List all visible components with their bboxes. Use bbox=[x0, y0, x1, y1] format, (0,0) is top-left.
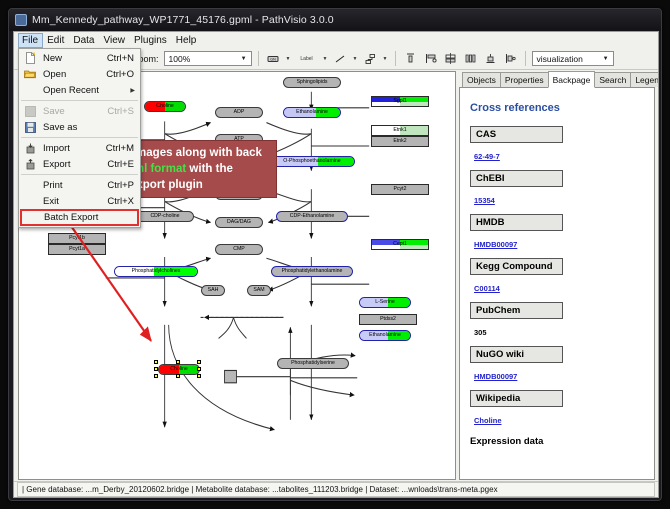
node-pcyt1b[interactable]: Pcyt1b bbox=[48, 233, 106, 244]
menu-item-accel: Ctrl+N bbox=[107, 53, 140, 64]
screenshot-root: Mm_Kennedy_pathway_WP1771_45176.gpml - P… bbox=[0, 0, 670, 509]
node-ptdss2[interactable]: Ptdss2 bbox=[359, 314, 417, 325]
blank-icon bbox=[22, 84, 38, 97]
node-sah[interactable]: SAH bbox=[201, 285, 225, 296]
menu-help[interactable]: Help bbox=[172, 33, 202, 48]
node-label: ADP bbox=[234, 110, 245, 115]
import-icon bbox=[22, 142, 38, 155]
blank-icon bbox=[22, 179, 38, 192]
label-dropdown-icon[interactable]: ▼ bbox=[322, 56, 329, 62]
node-label: Sphingolipids bbox=[297, 80, 328, 85]
xref-label-pubchem: PubChem bbox=[470, 302, 563, 319]
app-container: File Edit Data View Plugins Help Zoom: 1… bbox=[13, 31, 659, 498]
node-label: Etnk1 bbox=[393, 128, 406, 133]
node-label: Phosphatidylcholines bbox=[132, 269, 181, 274]
chevron-down-icon: ▼ bbox=[600, 56, 612, 62]
blank-icon bbox=[23, 211, 39, 224]
chevron-right-icon: ▶ bbox=[130, 87, 135, 94]
menu-item-label: New bbox=[43, 53, 107, 64]
node-o-phosphoethanolamine[interactable]: O-Phosphoethanolamine bbox=[269, 156, 355, 167]
node-cdp-ethanolamine[interactable]: CDP-Ethanolamine bbox=[276, 211, 348, 222]
xref-value-pubchem: 305 bbox=[474, 328, 487, 337]
node-label: Ptdss2 bbox=[380, 317, 396, 322]
toolbar-separator bbox=[395, 51, 396, 66]
menu-item-accel: Ctrl+X bbox=[107, 196, 140, 207]
stack-bottom-icon[interactable] bbox=[482, 50, 499, 67]
menu-item-print[interactable]: Print Ctrl+P bbox=[19, 177, 140, 193]
side-panel: Objects Properties Backpage Search Legen… bbox=[458, 70, 658, 481]
node-label: CDP-choline bbox=[150, 214, 179, 219]
xref-label-chebi: ChEBI bbox=[470, 170, 563, 187]
node-label: SAH bbox=[208, 288, 219, 293]
menu-item-accel: Ctrl+P bbox=[107, 180, 140, 191]
status-bar: | Gene database: ...m_Derby_20120602.bri… bbox=[14, 481, 658, 497]
menu-bar: File Edit Data View Plugins Help bbox=[14, 32, 658, 48]
shape-tool-icon[interactable] bbox=[362, 50, 379, 67]
node-label: Pcyt1b bbox=[69, 236, 85, 241]
menu-item-label: Exit bbox=[43, 196, 107, 207]
application-window: Mm_Kennedy_pathway_WP1771_45176.gpml - P… bbox=[8, 8, 662, 501]
node-etnk1[interactable]: Etnk1 bbox=[371, 125, 429, 136]
tab-properties[interactable]: Properties bbox=[500, 72, 549, 87]
xref-value-kegg-compound[interactable]: C00114 bbox=[474, 284, 500, 293]
node-cdp-choline[interactable]: CDP-choline bbox=[136, 211, 194, 222]
menu-item-label: Import bbox=[43, 143, 106, 154]
label-tool-icon[interactable]: Label bbox=[295, 50, 319, 67]
svg-text:GN: GN bbox=[270, 57, 276, 61]
node-label: Ethanolamine bbox=[296, 110, 328, 115]
node-label: Phosphatidylethanolamine bbox=[282, 269, 343, 274]
menu-item-label: Open Recent bbox=[43, 85, 140, 96]
save-icon bbox=[22, 105, 38, 118]
folder-icon bbox=[22, 68, 38, 81]
node-label: SAM bbox=[253, 288, 264, 293]
menu-item-label: Export bbox=[43, 159, 107, 170]
toolbar-separator bbox=[525, 51, 526, 66]
menu-separator bbox=[21, 100, 138, 101]
node-label: Sgpl1 bbox=[393, 99, 406, 104]
node-adp[interactable]: ADP bbox=[215, 107, 263, 118]
node-label: DAG/DAG bbox=[227, 220, 251, 225]
xref-value-hmdb[interactable]: HMDB00097 bbox=[474, 240, 517, 249]
menu-item-new[interactable]: New Ctrl+N bbox=[19, 50, 140, 66]
xref-label-wikipedia: Wikipedia bbox=[470, 390, 563, 407]
title-bar: Mm_Kennedy_pathway_WP1771_45176.gpml - P… bbox=[9, 9, 661, 31]
xref-label-hmdb: HMDB bbox=[470, 214, 563, 231]
menu-item-save[interactable]: Save Ctrl+S bbox=[19, 103, 140, 119]
node-label: Choline bbox=[156, 104, 174, 109]
menu-item-accel: Ctrl+E bbox=[107, 159, 140, 170]
node-l-serine[interactable]: L-Serine bbox=[359, 297, 411, 308]
node-dag[interactable]: DAG/DAG bbox=[215, 217, 263, 228]
tab-search[interactable]: Search bbox=[594, 72, 631, 87]
datanode-tool-icon[interactable]: GN bbox=[265, 50, 282, 67]
menu-item-accel: Ctrl+O bbox=[106, 69, 140, 80]
menu-item-accel: Ctrl+S bbox=[107, 106, 140, 117]
node-label: Phosphatidylserine bbox=[291, 361, 335, 366]
menu-item-save-as[interactable]: Save as bbox=[19, 119, 140, 135]
xref-value-wikipedia[interactable]: Choline bbox=[474, 416, 502, 425]
window-title: Mm_Kennedy_pathway_WP1771_45176.gpml - P… bbox=[32, 14, 334, 26]
menu-data[interactable]: Data bbox=[69, 33, 99, 48]
visualization-value: visualization bbox=[537, 54, 583, 64]
node-label: Cept1 bbox=[393, 242, 407, 247]
node-label: Choline bbox=[170, 367, 188, 372]
zoom-combobox[interactable]: 100% ▼ bbox=[164, 51, 252, 66]
expression-data-heading: Expression data bbox=[470, 436, 646, 447]
node-phosphatidylserine[interactable]: Phosphatidylserine bbox=[277, 358, 349, 369]
node-label: CMP bbox=[233, 247, 245, 252]
node-ethanolamine[interactable]: Ethanolamine bbox=[283, 107, 341, 118]
datanode-dropdown-icon[interactable]: ▼ bbox=[285, 56, 292, 62]
node-label: Ethanolamine bbox=[369, 333, 401, 338]
callout-line-2-post: with the bbox=[186, 163, 233, 175]
menu-item-accel: Ctrl+M bbox=[106, 143, 140, 154]
visualization-combobox[interactable]: visualization ▼ bbox=[532, 51, 614, 66]
node-sgpl1[interactable]: Sgpl1 bbox=[371, 96, 429, 107]
menu-item-open[interactable]: Open Ctrl+O bbox=[19, 66, 140, 82]
tab-objects[interactable]: Objects bbox=[462, 72, 501, 87]
menu-item-label: Print bbox=[43, 180, 107, 191]
menu-item-export[interactable]: Export Ctrl+E bbox=[19, 156, 140, 172]
node-phosphatidylcholines[interactable]: Phosphatidylcholines bbox=[114, 266, 198, 277]
shape-dropdown-icon[interactable]: ▼ bbox=[382, 56, 389, 62]
save-as-icon bbox=[22, 121, 38, 134]
menu-item-label: Open bbox=[43, 69, 106, 80]
cross-references-heading: Cross references bbox=[470, 102, 646, 114]
align-middle-icon[interactable] bbox=[442, 50, 459, 67]
node-etnk2[interactable]: Etnk2 bbox=[371, 136, 429, 147]
node-label: Pcyt1a bbox=[69, 247, 85, 252]
node-phosphatidylethanolamine[interactable]: Phosphatidylethanolamine bbox=[271, 266, 353, 277]
blank-icon bbox=[22, 195, 38, 208]
tab-legend[interactable]: Legend bbox=[630, 72, 659, 87]
status-text: | Gene database: ...m_Derby_20120602.bri… bbox=[17, 482, 655, 497]
menu-item-open-recent[interactable]: Open Recent ▶ bbox=[19, 82, 140, 98]
xref-value-chebi[interactable]: 15354 bbox=[474, 196, 495, 205]
menu-file[interactable]: File bbox=[18, 33, 43, 48]
new-file-icon bbox=[22, 52, 38, 65]
node-label: Etnk2 bbox=[393, 139, 406, 144]
distribute-icon[interactable] bbox=[462, 50, 479, 67]
chevron-down-icon: ▼ bbox=[238, 56, 250, 62]
line-dropdown-icon[interactable]: ▼ bbox=[352, 56, 359, 62]
menu-plugins[interactable]: Plugins bbox=[130, 33, 172, 48]
xref-value-cas[interactable]: 62-49-7 bbox=[474, 152, 500, 161]
node-pcyt1a[interactable]: Pcyt1a bbox=[48, 244, 106, 255]
xref-value-nugo-wiki[interactable]: HMDB00097 bbox=[474, 372, 517, 381]
xref-label-nugo-wiki: NuGO wiki bbox=[470, 346, 563, 363]
pathvisio-icon bbox=[15, 14, 27, 26]
node-sphingolipids[interactable]: Sphingolipids bbox=[283, 77, 341, 88]
menu-separator bbox=[21, 174, 138, 175]
node-choline[interactable]: Choline bbox=[144, 101, 186, 112]
align-left-icon[interactable] bbox=[422, 50, 439, 67]
menu-item-import[interactable]: Import Ctrl+M bbox=[19, 140, 140, 156]
file-dropdown-menu: New Ctrl+N Open Ctrl+O Open Recent ▶ bbox=[18, 48, 141, 228]
node-label: Pcyt2 bbox=[394, 187, 407, 192]
menu-item-label: Batch Export bbox=[44, 212, 137, 223]
stack-right-icon[interactable] bbox=[502, 50, 519, 67]
menu-view[interactable]: View bbox=[99, 33, 130, 48]
toolbar-separator bbox=[258, 51, 259, 66]
node-cmp[interactable]: CMP bbox=[215, 244, 263, 255]
node-label: L-Serine bbox=[375, 300, 395, 305]
node-label: CDP-Ethanolamine bbox=[290, 214, 334, 219]
side-panel-tabs: Objects Properties Backpage Search Legen… bbox=[459, 71, 655, 88]
line-tool-icon[interactable] bbox=[332, 50, 349, 67]
menu-separator bbox=[21, 137, 138, 138]
xref-label-cas: CAS bbox=[470, 126, 563, 143]
node-pcyt2[interactable]: Pcyt2 bbox=[371, 184, 429, 195]
export-icon bbox=[22, 158, 38, 171]
zoom-value: 100% bbox=[169, 54, 191, 64]
node-sam[interactable]: SAM bbox=[247, 285, 271, 296]
menu-edit[interactable]: Edit bbox=[43, 33, 69, 48]
align-top-icon[interactable] bbox=[402, 50, 419, 67]
node-ethanolamine-2[interactable]: Ethanolamine bbox=[359, 330, 411, 341]
node-label: O-Phosphoethanolamine bbox=[283, 159, 340, 164]
menu-item-label: Save as bbox=[43, 122, 134, 133]
menu-item-batch-export[interactable]: Batch Export bbox=[20, 209, 139, 226]
node-cept1[interactable]: Cept1 bbox=[371, 239, 429, 250]
backpage-content: Cross references CAS 62-49-7 ChEBI 15354… bbox=[459, 88, 655, 480]
xref-label-kegg-compound: Kegg Compound bbox=[470, 258, 563, 275]
menu-item-label: Save bbox=[43, 106, 107, 117]
menu-item-exit[interactable]: Exit Ctrl+X bbox=[19, 193, 140, 209]
tab-backpage[interactable]: Backpage bbox=[548, 71, 596, 88]
